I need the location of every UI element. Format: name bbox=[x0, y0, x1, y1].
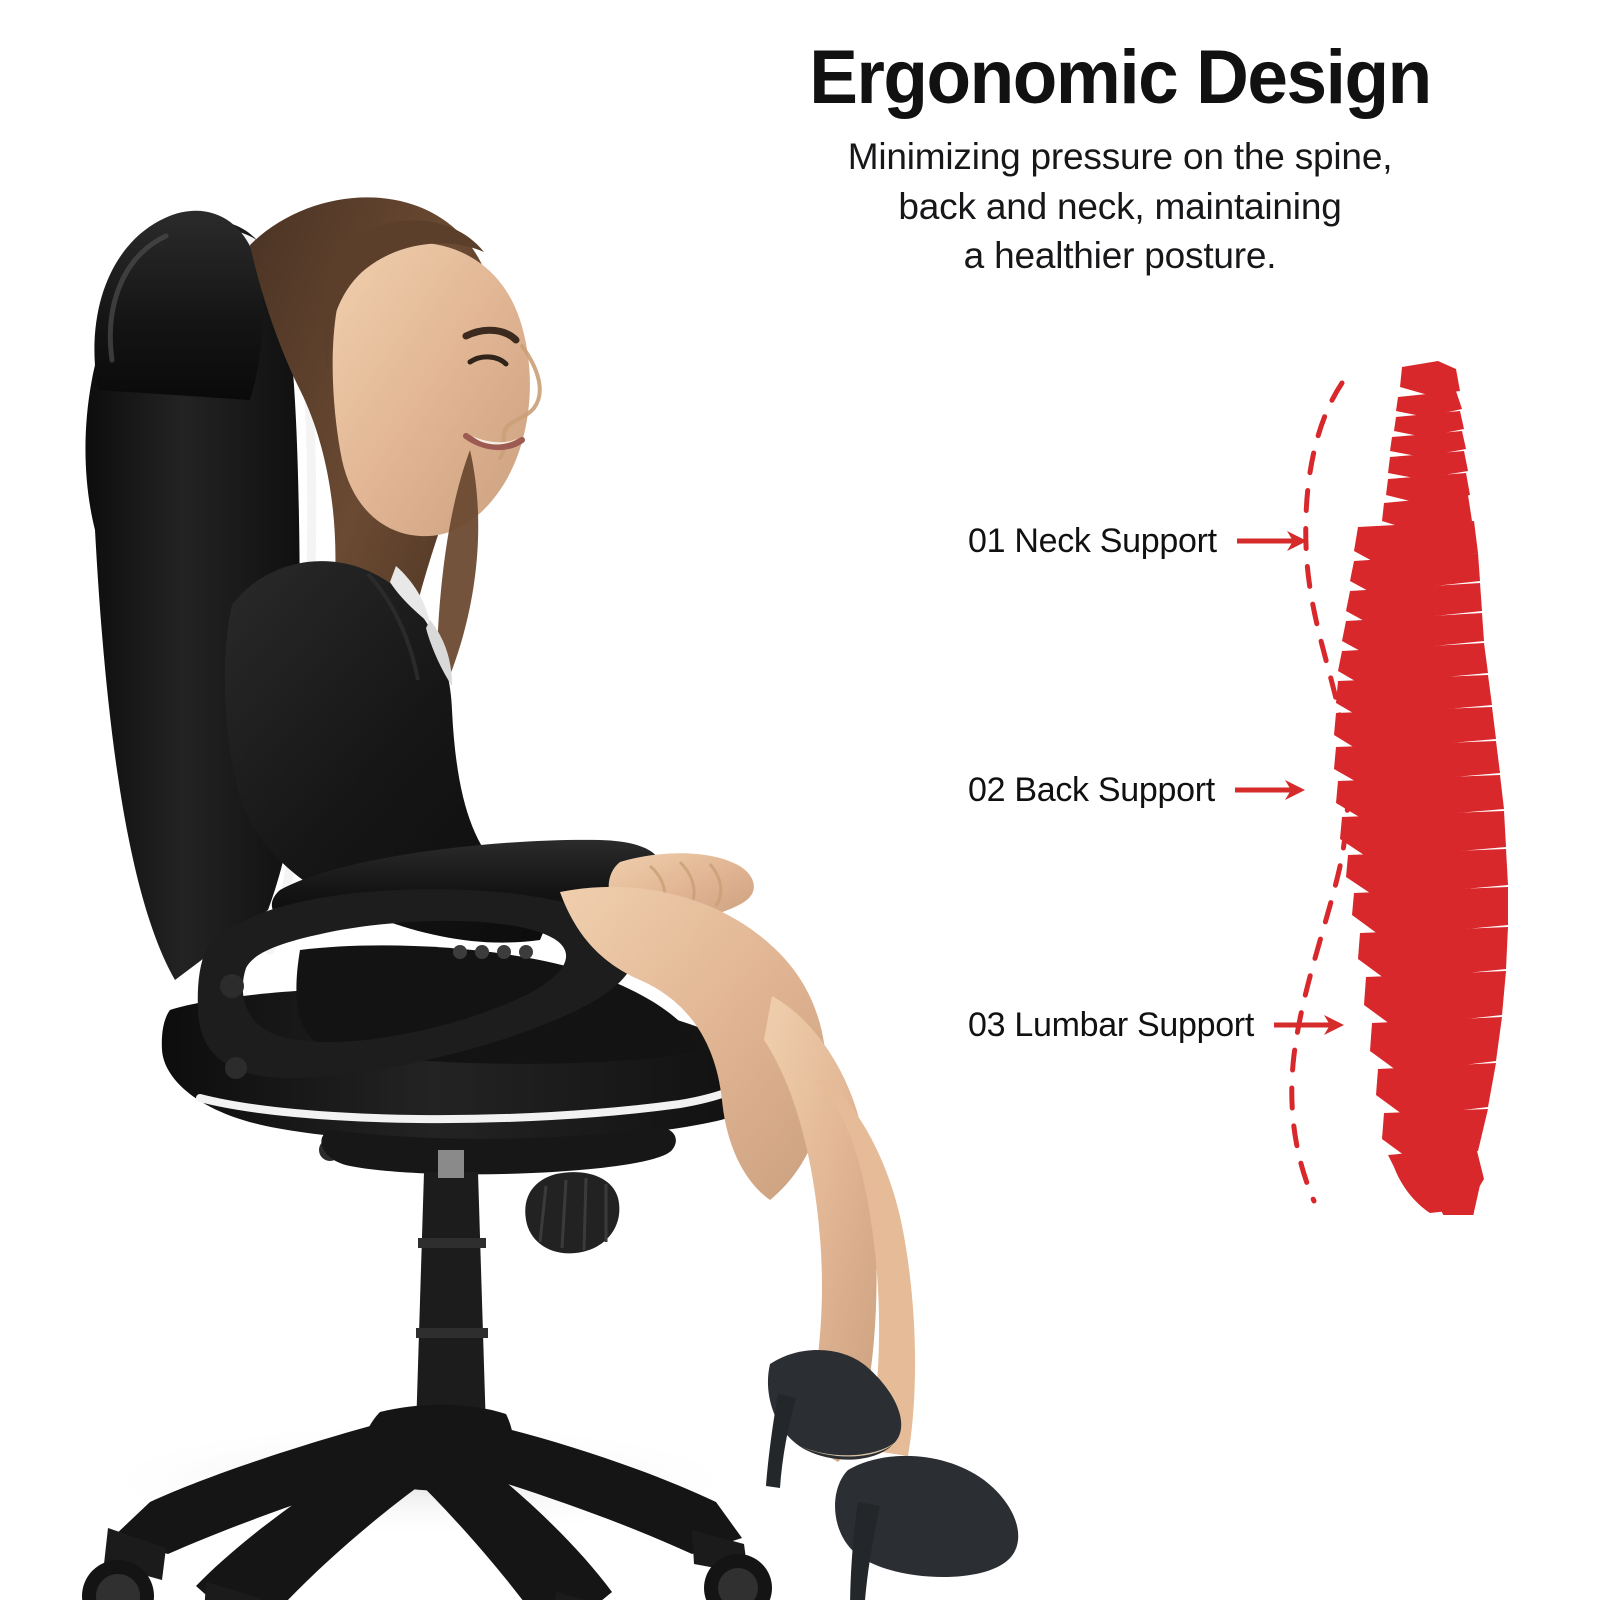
sacrum bbox=[1388, 1147, 1484, 1215]
spine-illustration bbox=[1280, 355, 1510, 1215]
callout-label: 02 Back Support bbox=[968, 770, 1215, 810]
cervical-vertebrae bbox=[1382, 361, 1472, 531]
callout-back-support: 02 Back Support bbox=[968, 770, 1308, 810]
callout-label: 03 Lumbar Support bbox=[968, 1005, 1254, 1045]
callout-neck-support: 01 Neck Support bbox=[968, 521, 1310, 561]
thoracic-vertebrae bbox=[1334, 521, 1508, 937]
lumbar-vertebrae bbox=[1358, 927, 1508, 1161]
callout-label: 01 Neck Support bbox=[968, 521, 1217, 561]
